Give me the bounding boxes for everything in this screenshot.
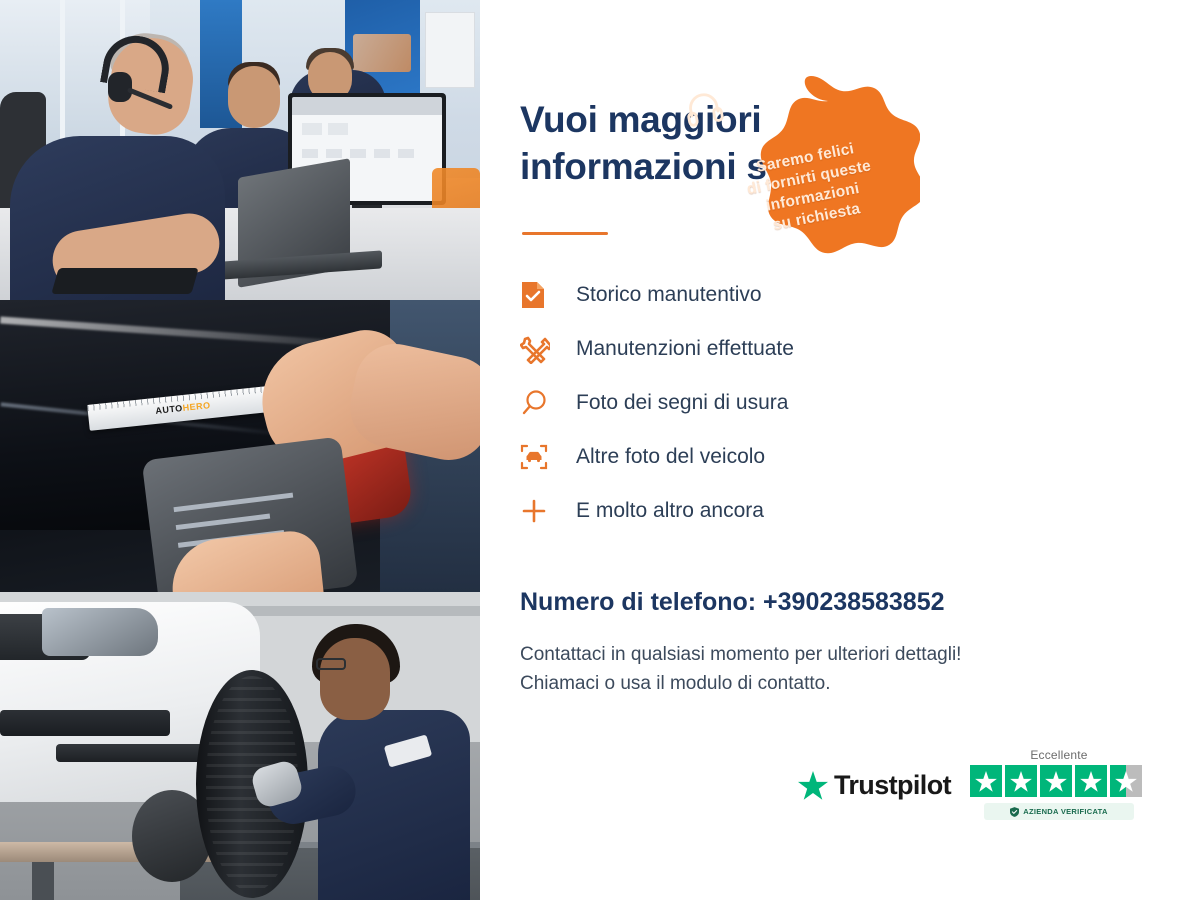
trustpilot-star-icon [798, 771, 828, 800]
feature-item-foto-usura: Foto dei segni di usura [520, 376, 1000, 430]
feature-label: Manutenzioni effettuate [576, 337, 794, 361]
shield-check-icon [1010, 807, 1019, 817]
safety-glasses [316, 658, 346, 670]
verified-text: AZIENDA VERIFICATA [1023, 807, 1107, 816]
vehicle-lift-leg [32, 862, 54, 900]
promo-banner: AUTOHERO [0, 0, 1200, 900]
trustpilot-logo: Trustpilot [798, 770, 951, 801]
contact-text: Contattaci in qualsiasi momento per ulte… [520, 640, 1140, 699]
star-filled [1005, 765, 1037, 797]
call-center-agents-photo [0, 0, 480, 300]
feature-list: Storico manutentivo Manutenzioni effettu… [520, 268, 1000, 538]
feature-label: E molto altro ancora [576, 499, 764, 523]
trustpilot-widget[interactable]: Trustpilot Eccellente [798, 748, 1148, 844]
plus-icon [520, 497, 576, 525]
contact-line-2: Chiamaci o usa il modulo di contatto. [520, 673, 831, 694]
agent-two-head [228, 66, 280, 128]
desk-tablet [51, 268, 198, 294]
autohero-ruler-inspection-photo: AUTOHERO [0, 300, 480, 592]
feature-item-altre-foto: Altre foto del veicolo [520, 430, 1000, 484]
title-divider [522, 232, 608, 235]
tools-cross-icon [520, 334, 576, 364]
feature-label: Foto dei segni di usura [576, 391, 788, 415]
mechanic-head [320, 638, 390, 720]
bumper-vent [0, 710, 170, 736]
magnifier-icon [520, 389, 576, 417]
feature-item-altro: E molto altro ancora [520, 484, 1000, 538]
rating-label: Eccellente [970, 748, 1148, 762]
photo-column: AUTOHERO [0, 0, 480, 900]
mechanic-wheel-inspection-photo [0, 592, 480, 900]
phone-number: Numero di telefono: +390238583852 [520, 588, 945, 617]
star-filled [970, 765, 1002, 797]
headset-icon [682, 88, 726, 129]
content-panel: Vuoi maggiori informazioni su ? Saremo f… [480, 0, 1200, 900]
contact-line-1: Contattaci in qualsiasi momento per ulte… [520, 644, 961, 665]
wall-notice [425, 12, 475, 88]
verified-company-badge: AZIENDA VERIFICATA [984, 803, 1134, 820]
trustpilot-rating: Eccellente [970, 748, 1148, 820]
car-scan-icon [520, 443, 576, 471]
feature-item-manutenzioni: Manutenzioni effettuate [520, 322, 1000, 376]
feature-label: Altre foto del veicolo [576, 445, 765, 469]
car-headlight [42, 608, 158, 656]
trustpilot-brand: Trustpilot [834, 770, 951, 801]
star-filled [1040, 765, 1072, 797]
bumper-vent [56, 744, 216, 762]
document-check-icon [520, 280, 576, 310]
star-half [1110, 765, 1142, 797]
star-filled [1075, 765, 1107, 797]
star-rating [970, 765, 1148, 797]
feature-label: Storico manutentivo [576, 283, 762, 307]
feature-item-storico: Storico manutentivo [520, 268, 1000, 322]
